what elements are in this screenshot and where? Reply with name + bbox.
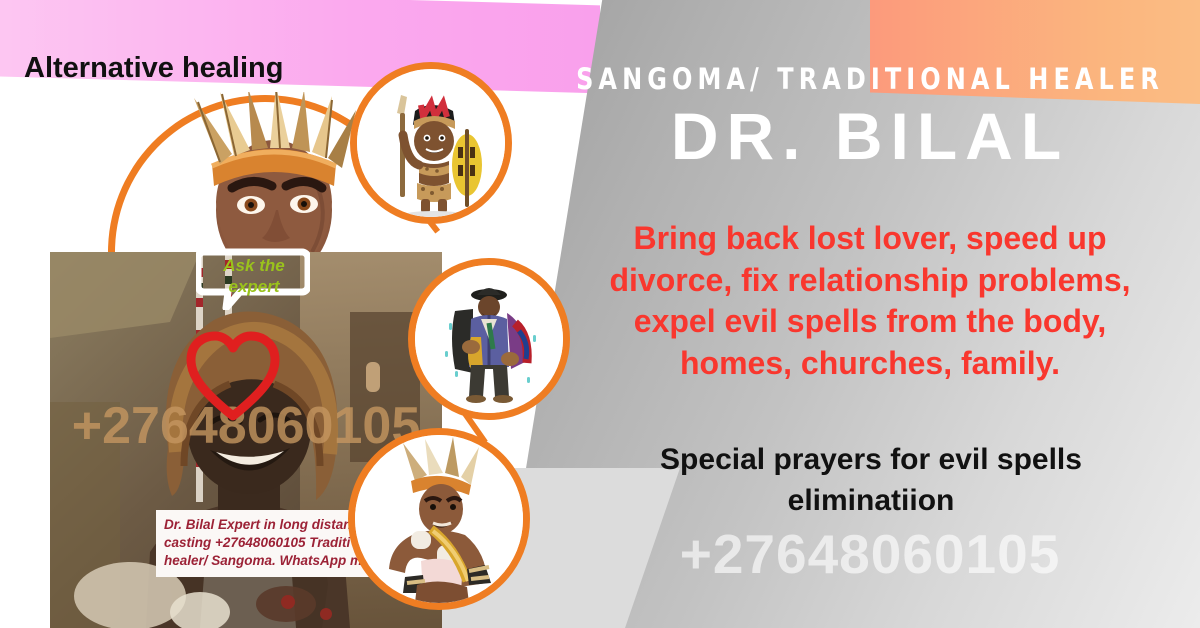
headline-name: DR. BILAL [540, 102, 1200, 171]
special-line-2: eliminatiion [582, 481, 1160, 522]
page-title: Alternative healing [24, 52, 283, 85]
special-prayers-text: Special prayers for evil spells eliminat… [582, 440, 1160, 522]
services-text: Bring back lost lover, speed up divorce,… [558, 218, 1182, 384]
services-line-4: homes, churches, family. [558, 343, 1182, 385]
bubble-zulu-warrior [350, 62, 512, 224]
red-heart-overlay [185, 330, 281, 422]
kicker-subtitle: SANGOMA/ TRADITIONAL HEALER [566, 62, 1173, 96]
services-line-3: expel evil spells from the body, [558, 301, 1182, 343]
poster-canvas: Alternative healing [0, 0, 1200, 628]
special-line-1: Special prayers for evil spells [582, 440, 1160, 481]
watermark-phone-right: +27648060105 [540, 522, 1200, 586]
services-line-2: divorce, fix relationship problems, [558, 260, 1182, 302]
speech-bubble-text: Ask the expert [202, 256, 306, 297]
bubble-zulu-dancer [348, 428, 530, 610]
services-line-1: Bring back lost lover, speed up [558, 218, 1182, 260]
right-text-column: SANGOMA/ TRADITIONAL HEALER DR. BILAL Br… [540, 0, 1200, 628]
